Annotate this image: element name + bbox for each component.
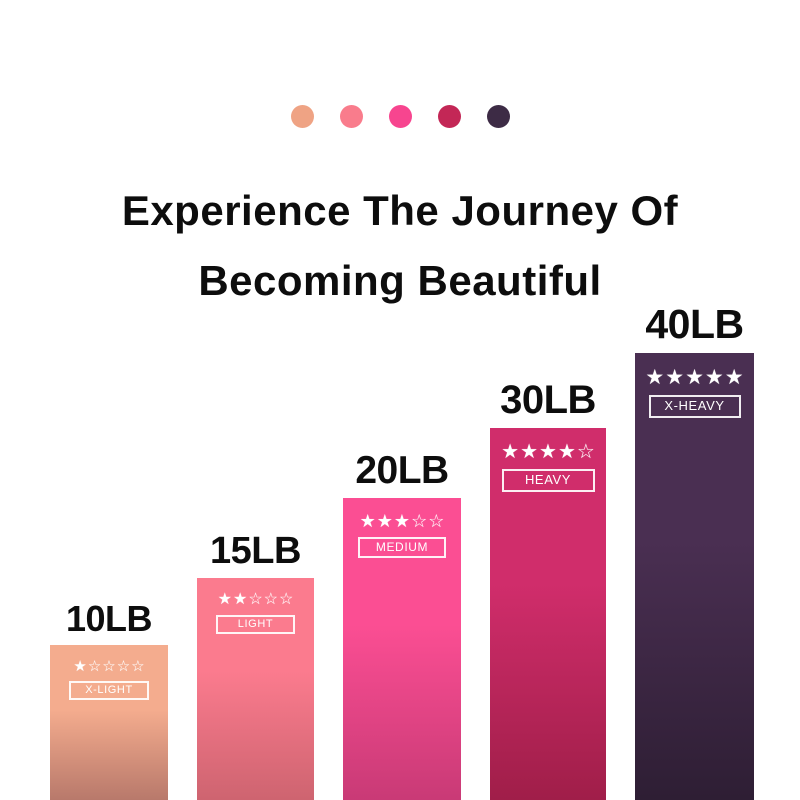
star-filled-icon: ★ [233, 592, 247, 608]
star-filled-icon: ★ [725, 367, 744, 388]
bar-content-10lb: ★☆☆☆☆X-LIGHT [50, 659, 168, 700]
star-filled-icon: ★ [520, 442, 538, 462]
bar-weight-label-15lb: 15LB [197, 532, 314, 570]
bar-20lb[interactable]: ★★★☆☆MEDIUM [343, 498, 461, 800]
star-filled-icon: ★ [558, 442, 576, 462]
star-empty-icon: ☆ [264, 592, 278, 608]
level-badge-heavy: HEAVY [502, 469, 595, 492]
bar-content-40lb: ★★★★★X-HEAVY [635, 367, 754, 418]
bar-40lb[interactable]: ★★★★★X-HEAVY [635, 353, 754, 800]
star-rating-20lb: ★★★☆☆ [360, 512, 445, 530]
bar-group-20lb[interactable]: 20LB★★★☆☆MEDIUM [343, 436, 461, 800]
star-rating-30lb: ★★★★☆ [501, 442, 595, 462]
bar-15lb[interactable]: ★★☆☆☆LIGHT [197, 578, 314, 800]
star-rating-40lb: ★★★★★ [645, 367, 743, 388]
level-badge-light: LIGHT [216, 615, 295, 634]
star-filled-icon: ★ [685, 367, 704, 388]
star-filled-icon: ★ [377, 512, 393, 530]
star-empty-icon: ☆ [88, 659, 101, 674]
resistance-band-bar-chart: 10LB★☆☆☆☆X-LIGHT15LB★★☆☆☆LIGHT20LB★★★☆☆M… [0, 0, 800, 800]
star-filled-icon: ★ [360, 512, 376, 530]
star-filled-icon: ★ [539, 442, 557, 462]
bar-group-30lb[interactable]: 30LB★★★★☆HEAVY [490, 366, 606, 800]
bar-group-10lb[interactable]: 10LB★☆☆☆☆X-LIGHT [50, 583, 168, 800]
bar-10lb[interactable]: ★☆☆☆☆X-LIGHT [50, 645, 168, 800]
star-empty-icon: ☆ [117, 659, 130, 674]
star-rating-15lb: ★★☆☆☆ [218, 592, 294, 608]
bar-weight-label-30lb: 30LB [490, 380, 606, 420]
star-rating-10lb: ★☆☆☆☆ [73, 659, 144, 674]
bar-content-20lb: ★★★☆☆MEDIUM [343, 512, 461, 558]
level-badge-x-heavy: X-HEAVY [649, 395, 741, 418]
star-filled-icon: ★ [501, 442, 519, 462]
star-empty-icon: ☆ [577, 442, 595, 462]
bar-weight-label-40lb: 40LB [635, 304, 754, 345]
star-empty-icon: ☆ [248, 592, 262, 608]
level-badge-x-light: X-LIGHT [69, 681, 149, 700]
bar-group-15lb[interactable]: 15LB★★☆☆☆LIGHT [197, 516, 314, 800]
star-empty-icon: ☆ [279, 592, 293, 608]
star-filled-icon: ★ [705, 367, 724, 388]
bar-30lb[interactable]: ★★★★☆HEAVY [490, 428, 606, 800]
bar-content-30lb: ★★★★☆HEAVY [490, 442, 606, 492]
star-filled-icon: ★ [218, 592, 232, 608]
level-badge-medium: MEDIUM [358, 537, 446, 558]
star-filled-icon: ★ [394, 512, 410, 530]
bar-content-15lb: ★★☆☆☆LIGHT [197, 592, 314, 634]
bar-weight-label-20lb: 20LB [343, 451, 461, 490]
bar-group-40lb[interactable]: 40LB★★★★★X-HEAVY [635, 291, 754, 800]
star-empty-icon: ☆ [102, 659, 115, 674]
star-filled-icon: ★ [645, 367, 664, 388]
star-empty-icon: ☆ [411, 512, 427, 530]
star-empty-icon: ☆ [428, 512, 444, 530]
bar-weight-label-10lb: 10LB [50, 601, 168, 637]
star-filled-icon: ★ [73, 659, 86, 674]
star-empty-icon: ☆ [131, 659, 144, 674]
star-filled-icon: ★ [665, 367, 684, 388]
